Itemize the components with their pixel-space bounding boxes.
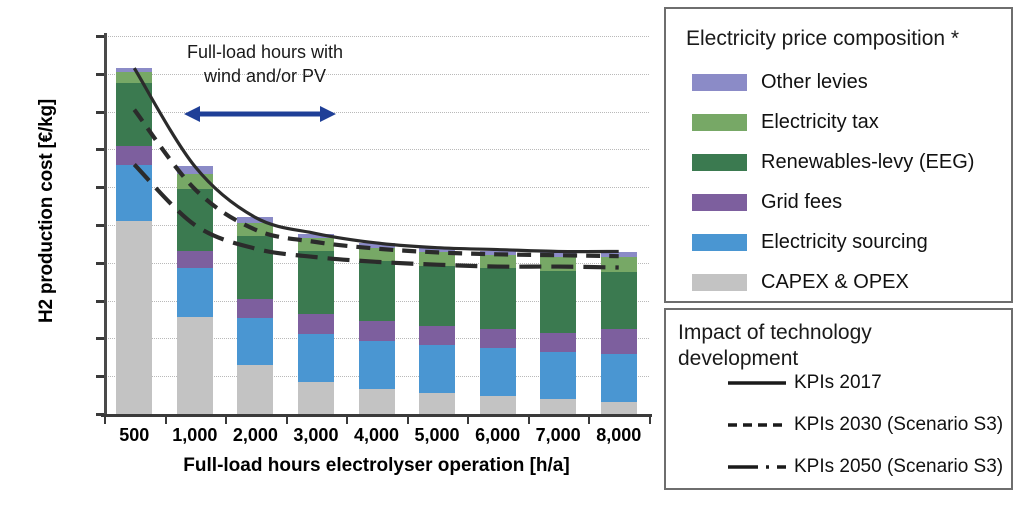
x-axis-tick [649, 414, 651, 424]
legend-item-label: Other levies [761, 71, 868, 94]
legend-line-sample [726, 416, 788, 434]
legend-line-sample [726, 458, 788, 476]
x-axis-tick [346, 414, 348, 424]
legend-item-kpis-2017[interactable]: KPIs 2017 [726, 372, 882, 394]
legend-item-renewables-levy-eeg[interactable]: Renewables-levy (EEG) [692, 151, 974, 174]
legend-item-label: Renewables-levy (EEG) [761, 151, 974, 174]
annotation-line-1: Full-load hours with [150, 40, 380, 64]
x-axis-tick [588, 414, 590, 424]
legend-item-kpis-2030-scenario-s3[interactable]: KPIs 2030 (Scenario S3) [726, 414, 1003, 436]
line-series [134, 68, 618, 251]
legend-item-label: KPIs 2030 (Scenario S3) [794, 414, 1003, 436]
annotation-text: Full-load hours with wind and/or PV [150, 40, 380, 89]
x-axis-line [101, 414, 652, 417]
plot-area: H2 production cost [€/kg] 20181614121086… [0, 0, 660, 509]
y-axis-title: H2 production cost [€/kg] [36, 16, 58, 406]
legend-color-swatch [692, 274, 747, 291]
legend-item-capex-opex[interactable]: CAPEX & OPEX [692, 271, 909, 294]
legend-color-swatch [692, 234, 747, 251]
x-axis-title: Full-load hours electrolyser operation [… [104, 455, 649, 477]
legend-color-swatch [692, 194, 747, 211]
x-axis-tick [407, 414, 409, 424]
legend-technology-development: Impact of technology development KPIs 20… [664, 308, 1013, 490]
legend-composition-title: Electricity price composition * [686, 27, 959, 51]
legend-item-electricity-sourcing[interactable]: Electricity sourcing [692, 231, 928, 254]
legend-color-swatch [692, 114, 747, 131]
legend-color-swatch [692, 74, 747, 91]
legend-item-other-levies[interactable]: Other levies [692, 71, 868, 94]
x-axis-tick [225, 414, 227, 424]
x-axis-tick [165, 414, 167, 424]
chart-page: H2 production cost [€/kg] 20181614121086… [0, 0, 1033, 509]
x-axis-tick-label: 8,000 [579, 425, 659, 446]
line-series-layer [104, 36, 649, 414]
legend-item-kpis-2050-scenario-s3[interactable]: KPIs 2050 (Scenario S3) [726, 456, 1003, 478]
x-axis-tick [104, 414, 106, 424]
legend-line-sample [726, 374, 788, 392]
x-axis-tick [528, 414, 530, 424]
double-arrow-icon [184, 105, 336, 123]
legend-item-label: KPIs 2050 (Scenario S3) [794, 456, 1003, 478]
legend-item-label: KPIs 2017 [794, 372, 882, 394]
legend-color-swatch [692, 154, 747, 171]
x-axis-tick [467, 414, 469, 424]
legend-item-grid-fees[interactable]: Grid fees [692, 191, 842, 214]
x-axis-tick [286, 414, 288, 424]
legend-item-label: Electricity tax [761, 111, 879, 134]
annotation-line-2: wind and/or PV [150, 64, 380, 88]
legend-tech-title: Impact of technology development [678, 320, 928, 371]
legend-item-label: Grid fees [761, 191, 842, 214]
legend-item-electricity-tax[interactable]: Electricity tax [692, 111, 879, 134]
legend-electricity-price-composition: Electricity price composition * Other le… [664, 7, 1013, 303]
legend-item-label: Electricity sourcing [761, 231, 928, 254]
legend-item-label: CAPEX & OPEX [761, 271, 909, 294]
